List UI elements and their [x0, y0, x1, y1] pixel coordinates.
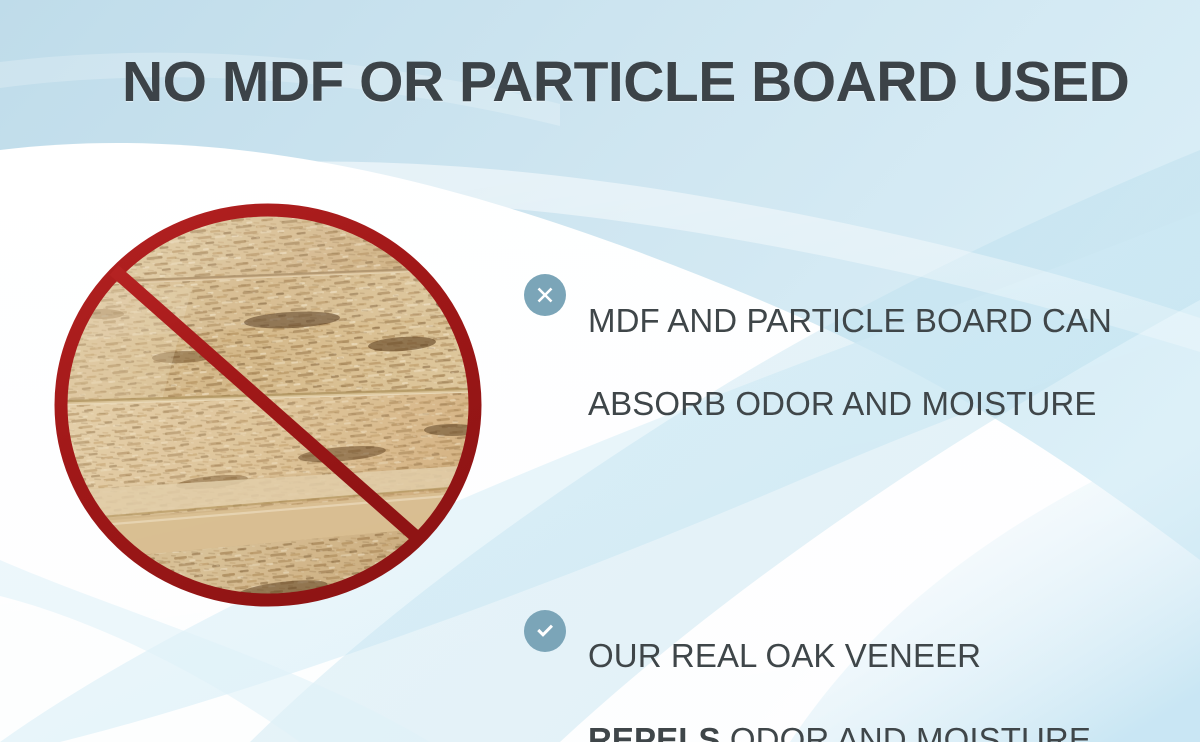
- prohibition-sign-graphic: [42, 192, 494, 618]
- bullet-text-negative: MDF AND PARTICLE BOARD CAN ABSORB ODOR A…: [588, 258, 1112, 466]
- bullet-text-positive: OUR REAL OAK VENEER REPELS ODOR AND MOIS…: [588, 594, 1091, 742]
- benefit-list: MDF AND PARTICLE BOARD CAN ABSORB ODOR A…: [524, 258, 1184, 742]
- bullet-emphasis-word: REPELS: [588, 721, 721, 742]
- bullet-line: OUR REAL OAK VENEER: [588, 635, 1091, 677]
- infographic-canvas: NO MDF OR PARTICLE BOARD USED: [0, 0, 1200, 742]
- bullet-emphasis-rest: ODOR AND MOISTURE: [721, 721, 1091, 742]
- bullet-line-emphasised: REPELS ODOR AND MOISTURE: [588, 719, 1091, 742]
- bullet-line: MDF AND PARTICLE BOARD CAN: [588, 300, 1112, 342]
- x-circle-icon: [524, 274, 566, 316]
- bullet-line: ABSORB ODOR AND MOISTURE: [588, 383, 1112, 425]
- check-circle-icon: [524, 610, 566, 652]
- list-item: MDF AND PARTICLE BOARD CAN ABSORB ODOR A…: [524, 258, 1184, 466]
- list-item: OUR REAL OAK VENEER REPELS ODOR AND MOIS…: [524, 594, 1184, 742]
- page-title: NO MDF OR PARTICLE BOARD USED: [122, 52, 1129, 114]
